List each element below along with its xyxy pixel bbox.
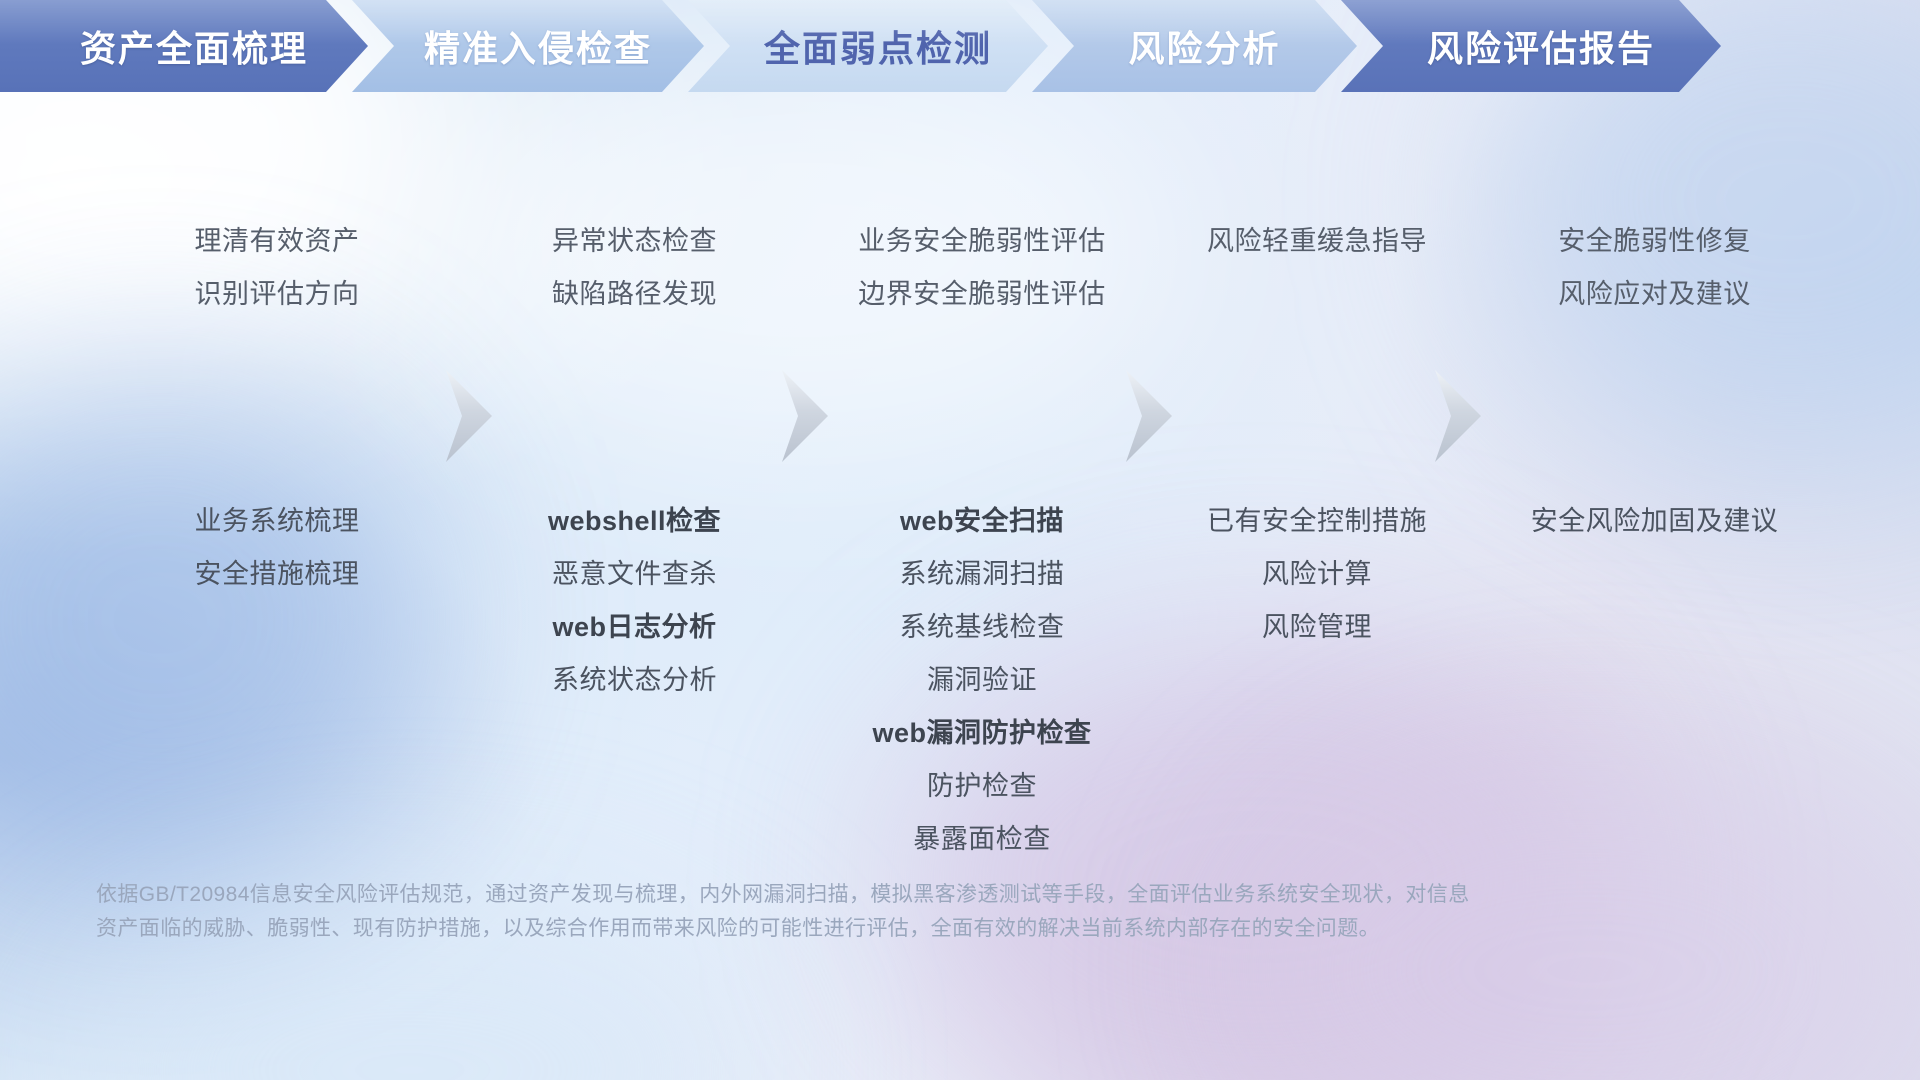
stage-2-activity: 恶意文件查杀 (552, 561, 717, 588)
stage-2-bottom-group: webshell检查 恶意文件查杀 web日志分析 系统状态分析 (462, 508, 807, 879)
flow-stage-5-label: 风险评估报告 (1427, 20, 1655, 72)
stage-4-top-item: 风险轻重缓急指导 (1207, 228, 1427, 255)
stage-3-activity: 暴露面检查 (913, 826, 1051, 853)
stage-3-activity: 系统漏洞扫描 (900, 561, 1065, 588)
stage-1-activity: 业务系统梳理 (195, 508, 360, 535)
stage-1-top-item: 识别评估方向 (195, 281, 360, 308)
stage-3-activity: 系统基线检查 (900, 614, 1065, 641)
flow-stage-2[interactable]: 精准入侵检查 (352, 0, 704, 92)
stage-inputs-row: 理清有效资产 识别评估方向 异常状态检查 缺陷路径发现 业务安全脆弱性评估 边界… (92, 228, 1832, 334)
flow-stage-4[interactable]: 风险分析 (1032, 0, 1357, 92)
stage-5-top-item: 安全脆弱性修复 (1558, 228, 1751, 255)
footer-line-2: 资产面临的威胁、脆弱性、现有防护措施，以及综合作用而带来风险的可能性进行评估，全… (96, 912, 1616, 946)
stage-3-top-item: 边界安全脆弱性评估 (858, 281, 1106, 308)
stage-3-activity: 防护检查 (927, 773, 1037, 800)
stage-2-top-item: 异常状态检查 (552, 228, 717, 255)
stage-activities-row: 业务系统梳理 安全措施梳理 webshell检查 恶意文件查杀 web日志分析 … (92, 508, 1832, 879)
stage-1-top-item: 理清有效资产 (195, 228, 360, 255)
flow-arrow-separator-icon (1126, 370, 1172, 462)
stage-2-activity: webshell检查 (548, 508, 721, 535)
stage-4-activity: 风险管理 (1262, 614, 1372, 641)
footer-description: 依据GB/T20984信息安全风险评估规范，通过资产发现与梳理，内外网漏洞扫描，… (96, 878, 1616, 946)
stage-3-top-group: 业务安全脆弱性评估 边界安全脆弱性评估 (807, 228, 1157, 334)
footer-line-1: 依据GB/T20984信息安全风险评估规范，通过资产发现与梳理，内外网漏洞扫描，… (96, 878, 1616, 912)
flow-stage-1[interactable]: 资产全面梳理 (0, 0, 368, 92)
stage-4-activity: 风险计算 (1262, 561, 1372, 588)
flow-stage-5[interactable]: 风险评估报告 (1341, 0, 1721, 92)
stage-2-activity: web日志分析 (552, 614, 716, 641)
stage-1-activity: 安全措施梳理 (195, 561, 360, 588)
slide-canvas: 理清有效资产 识别评估方向 异常状态检查 缺陷路径发现 业务安全脆弱性评估 边界… (0, 0, 1920, 1080)
stage-3-activity: web安全扫描 (900, 508, 1064, 535)
stage-1-top-group: 理清有效资产 识别评估方向 (92, 228, 462, 334)
stage-3-activity: 漏洞验证 (927, 667, 1037, 694)
stage-2-top-group: 异常状态检查 缺陷路径发现 (462, 228, 807, 334)
stage-2-activity: 系统状态分析 (552, 667, 717, 694)
stage-2-top-item: 缺陷路径发现 (552, 281, 717, 308)
stage-5-top-item: 风险应对及建议 (1558, 281, 1751, 308)
flow-arrow-separator-icon (1435, 370, 1481, 462)
stage-1-bottom-group: 业务系统梳理 安全措施梳理 (92, 508, 462, 879)
flow-stage-3[interactable]: 全面弱点检测 (688, 0, 1048, 92)
stage-5-top-group: 安全脆弱性修复 风险应对及建议 (1477, 228, 1832, 334)
stage-5-bottom-group: 安全风险加固及建议 (1477, 508, 1832, 879)
flow-stage-2-label: 精准入侵检查 (424, 20, 652, 72)
stage-4-bottom-group: 已有安全控制措施 风险计算 风险管理 (1157, 508, 1477, 879)
flow-stage-3-label: 全面弱点检测 (764, 20, 992, 72)
flow-stage-1-label: 资产全面梳理 (80, 20, 308, 72)
flow-stage-4-label: 风险分析 (1128, 20, 1280, 72)
stage-3-bottom-group: web安全扫描 系统漏洞扫描 系统基线检查 漏洞验证 web漏洞防护检查 防护检… (807, 508, 1157, 879)
stage-3-activity: web漏洞防护检查 (872, 720, 1091, 747)
stage-4-top-group: 风险轻重缓急指导 (1157, 228, 1477, 334)
process-flow-band: 资产全面梳理 精准入侵检查 全面弱点检测 风险分析 风险评估报告 (0, 0, 1745, 92)
flow-arrow-separator-icon (446, 370, 492, 462)
stage-5-activity: 安全风险加固及建议 (1531, 508, 1779, 535)
stage-4-activity: 已有安全控制措施 (1207, 508, 1427, 535)
stage-3-top-item: 业务安全脆弱性评估 (858, 228, 1106, 255)
flow-arrow-separator-icon (782, 370, 828, 462)
